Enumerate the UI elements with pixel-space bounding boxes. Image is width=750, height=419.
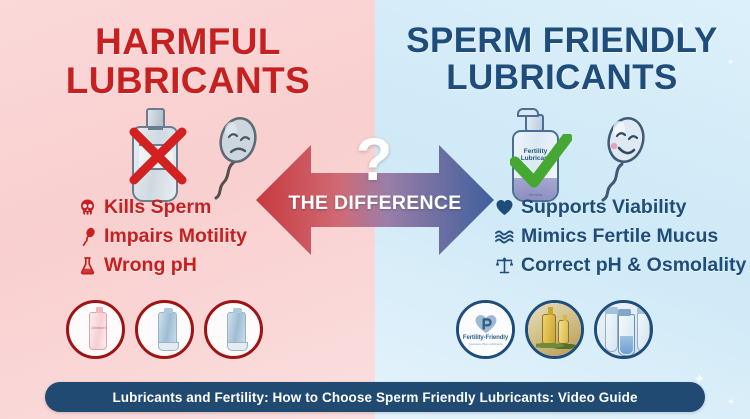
test-tube-thumb[interactable]	[594, 300, 653, 359]
olive-oil-bottle-large	[542, 314, 556, 344]
bottle-label-text: Fertility Lubricant	[514, 148, 557, 163]
test-tube-back-right	[637, 312, 650, 352]
flask-icon	[78, 256, 97, 275]
left-title-line2: LUBRICANTS	[8, 61, 368, 100]
olive-oil-scene	[528, 303, 581, 356]
bullet-label: Correct pH & Osmolality	[521, 254, 746, 277]
fertility-friendly-badge-thumb[interactable]: Fertility-Friendly Conceive Plus Lubrica…	[456, 300, 515, 359]
badge-title: Fertility-Friendly	[463, 335, 508, 341]
left-title: HARMFUL LUBRICANTS	[8, 22, 368, 100]
bullet-item: Wrong pH	[78, 251, 308, 280]
baby-oil-label: Johnson's	[91, 326, 107, 330]
sperm-friendly-product-thumbnails: Fertility-Friendly Conceive Plus Lubrica…	[456, 300, 653, 359]
sad-sperm-icon	[200, 110, 260, 202]
bottle-cap	[146, 108, 165, 128]
test-tube-back-left	[605, 312, 618, 352]
infographic-canvas: ✦ ✦ ✦ ✦ HARMFUL LUBRICANTS SPERM FRIENDL…	[0, 0, 750, 419]
bottle-label-band	[139, 144, 173, 170]
bullet-item: Kills Sperm	[78, 193, 308, 222]
olive-oil-thumb[interactable]	[525, 300, 584, 359]
wave-icon	[495, 227, 514, 246]
right-title-line2: LUBRICANTS	[382, 59, 742, 96]
badge-subtitle: Conceive Plus Lubricants	[469, 342, 503, 346]
bullet-label: Supports Viability	[521, 196, 686, 219]
skull-icon	[78, 198, 97, 217]
bullet-item: Impairs Motility	[78, 222, 308, 251]
harmful-product-thumbnails: Johnson's	[66, 300, 263, 359]
sperm-icon	[78, 227, 97, 246]
question-mark-icon: ?	[342, 130, 406, 192]
bullet-label: Kills Sperm	[104, 196, 211, 219]
bullet-item: Mimics Fertile Mucus	[495, 222, 745, 251]
lubricant-tube-icon	[227, 312, 246, 351]
bullet-label: Wrong pH	[104, 254, 197, 277]
video-caption-bar[interactable]: Lubricants and Fertility: How to Choose …	[45, 382, 705, 412]
bottle-label-line2: Lubricant	[514, 155, 557, 162]
bottle-body	[132, 126, 178, 202]
heart-p-logo-icon	[474, 314, 498, 334]
test-tube-main	[618, 314, 635, 356]
happy-sperm-icon	[586, 110, 652, 202]
bottle-label-line1: Fertility	[514, 148, 557, 155]
scales-icon	[495, 256, 514, 275]
fertility-friendly-badge: Fertility-Friendly Conceive Plus Lubrica…	[459, 303, 512, 356]
heart-icon	[495, 198, 514, 217]
baby-oil-bottle-icon: Johnson's	[89, 312, 107, 350]
test-tube-fluid	[620, 336, 633, 354]
bullet-label: Mimics Fertile Mucus	[521, 225, 718, 248]
right-title-line1: SPERM FRIENDLY	[406, 21, 718, 60]
bullet-item: Correct pH & Osmolality	[495, 251, 745, 280]
sperm-friendly-bullet-list: Supports Viability Mimics Fertile Mucus	[495, 193, 745, 280]
left-title-line1: HARMFUL	[95, 21, 281, 62]
baby-oil-bottle-thumb[interactable]: Johnson's	[66, 300, 125, 359]
olive-leaves	[536, 341, 576, 350]
lab-scene	[597, 303, 650, 356]
bullet-label: Impairs Motility	[104, 225, 247, 248]
harmful-lubricant-bottle-icon	[128, 104, 184, 204]
harmful-bullet-list: Kills Sperm Impairs Motility Wrong pH	[78, 193, 308, 280]
lubricant-tube-thumb-2[interactable]	[204, 300, 263, 359]
lubricant-tube-icon	[158, 312, 177, 351]
fertility-lubricant-bottle-icon: Fertility Lubricant formula	[508, 104, 564, 204]
right-title: SPERM FRIENDLY LUBRICANTS	[382, 22, 742, 96]
pump-bottle-body: Fertility Lubricant formula	[512, 130, 559, 202]
pump-nozzle	[517, 108, 539, 117]
lubricant-tube-thumb-1[interactable]	[135, 300, 194, 359]
sparkle-icon: ✦	[727, 398, 735, 408]
bullet-item: Supports Viability	[495, 193, 745, 222]
